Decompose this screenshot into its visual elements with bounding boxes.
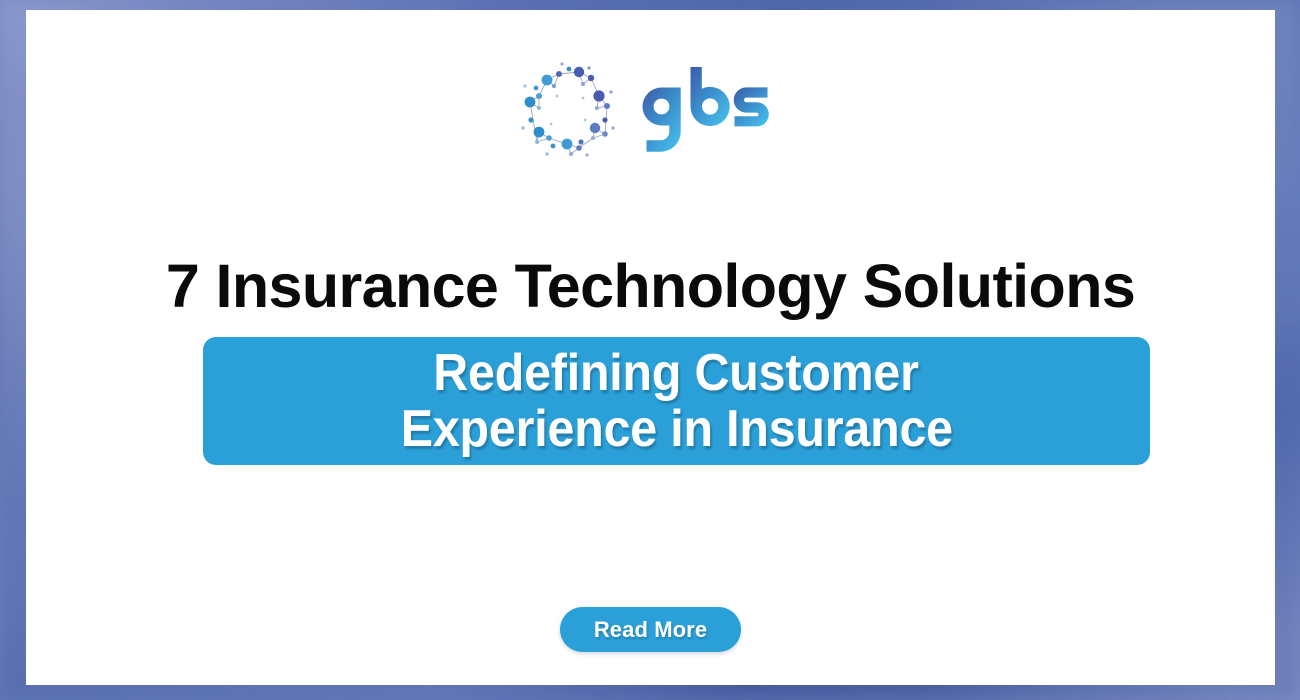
subtitle-banner: Redefining Customer Experience in Insura…: [203, 337, 1150, 465]
subtitle-line-1: Redefining Customer: [434, 345, 919, 401]
brand-logo[interactable]: [26, 56, 1275, 164]
page-title: 7 Insurance Technology Solutions: [26, 250, 1275, 322]
cta-container: Read More: [26, 607, 1275, 652]
subtitle-line-2: Experience in Insurance: [400, 401, 952, 457]
network-ring-icon: [517, 58, 621, 162]
gbs-wordmark: [635, 67, 785, 153]
read-more-button[interactable]: Read More: [560, 607, 741, 652]
content-card: 7 Insurance Technology Solutions Redefin…: [26, 10, 1275, 685]
